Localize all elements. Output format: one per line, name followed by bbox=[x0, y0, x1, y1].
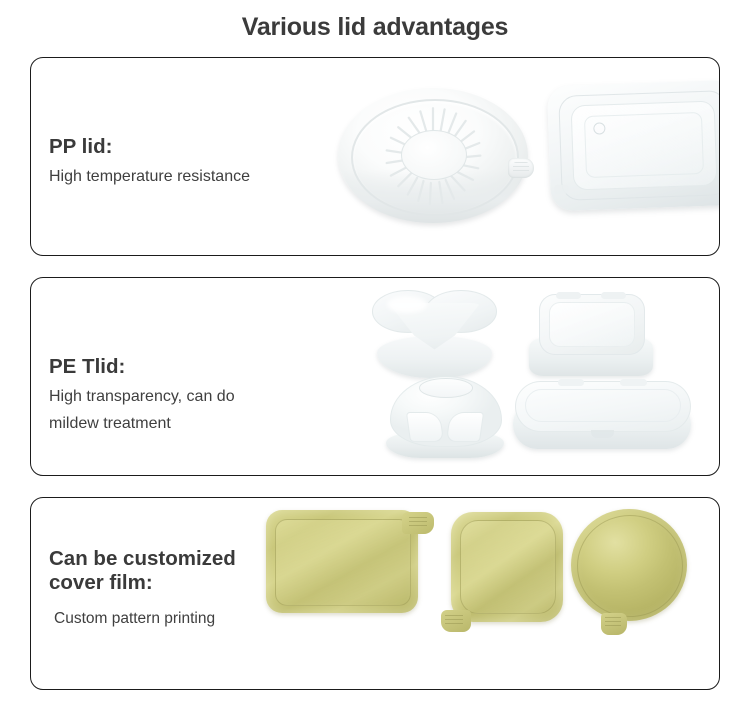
pe-lid-heading: PE Tlid: bbox=[49, 354, 235, 379]
round-pp-lid-image bbox=[338, 88, 528, 223]
pe-lid-description: High transparency, can do mildew treatme… bbox=[49, 383, 235, 437]
oval-flat-pe-lid-image bbox=[513, 381, 691, 449]
gold-round-foil-lid-image bbox=[571, 509, 687, 621]
cup-dome-pe-lid-image bbox=[386, 376, 504, 458]
advantage-card-pe-lid: PE Tlid: High transparency, can do milde… bbox=[30, 277, 720, 476]
gold-rectangular-foil-lid-inset bbox=[275, 519, 411, 605]
cover-film-description: Custom pattern printing bbox=[49, 605, 236, 632]
gold-rectangular-foil-lid-tab bbox=[402, 512, 434, 534]
gold-square-foil-lid-inset bbox=[460, 520, 556, 614]
cover-film-heading: Can be customized cover film: bbox=[49, 547, 236, 595]
round-pp-lid-tab bbox=[508, 158, 534, 178]
rectangular-pp-lid-image bbox=[547, 80, 720, 211]
oval-flat-pe-lid-tab-left bbox=[558, 379, 585, 386]
square-dome-pe-lid-image bbox=[529, 294, 653, 376]
pe-lid-text-block: PE Tlid: High transparency, can do milde… bbox=[49, 354, 235, 437]
cover-film-text-block: Can be customized cover film: Custom pat… bbox=[49, 547, 236, 632]
heart-dome-pe-lid-highlight bbox=[387, 296, 427, 312]
square-dome-pe-lid-lip-left bbox=[556, 292, 581, 299]
pp-lid-text-block: PP lid: High temperature resistance bbox=[49, 134, 250, 190]
rectangular-pp-lid-recycle-mark bbox=[593, 122, 605, 134]
gold-rectangular-foil-lid-image bbox=[266, 510, 418, 613]
square-dome-pe-lid-lip-right bbox=[601, 292, 626, 299]
advantage-card-list: PP lid: High temperature resistance bbox=[30, 57, 720, 690]
gold-round-foil-lid-inset bbox=[577, 515, 683, 618]
oval-flat-pe-lid-dent bbox=[591, 430, 614, 438]
cup-dome-pe-lid-straw-slot-right bbox=[446, 412, 484, 442]
rectangular-pp-lid-notch bbox=[554, 184, 568, 193]
gold-round-foil-lid-tab bbox=[601, 613, 627, 635]
pp-lid-heading: PP lid: bbox=[49, 134, 250, 159]
advantage-card-cover-film: Can be customized cover film: Custom pat… bbox=[30, 497, 720, 690]
page-title: Various lid advantages bbox=[0, 0, 750, 46]
advantage-card-pp-lid: PP lid: High temperature resistance bbox=[30, 57, 720, 256]
heart-dome-pe-lid-image bbox=[372, 290, 497, 378]
pp-lid-description: High temperature resistance bbox=[49, 163, 250, 190]
gold-square-foil-lid-image bbox=[451, 512, 563, 622]
heart-dome-pe-lid-dome bbox=[372, 290, 497, 353]
square-dome-pe-lid-inner-panel bbox=[549, 302, 635, 347]
oval-flat-pe-lid-tab-right bbox=[620, 379, 647, 386]
gold-square-foil-lid-tab bbox=[441, 610, 471, 632]
oval-flat-pe-lid-inner-ring bbox=[525, 389, 680, 422]
